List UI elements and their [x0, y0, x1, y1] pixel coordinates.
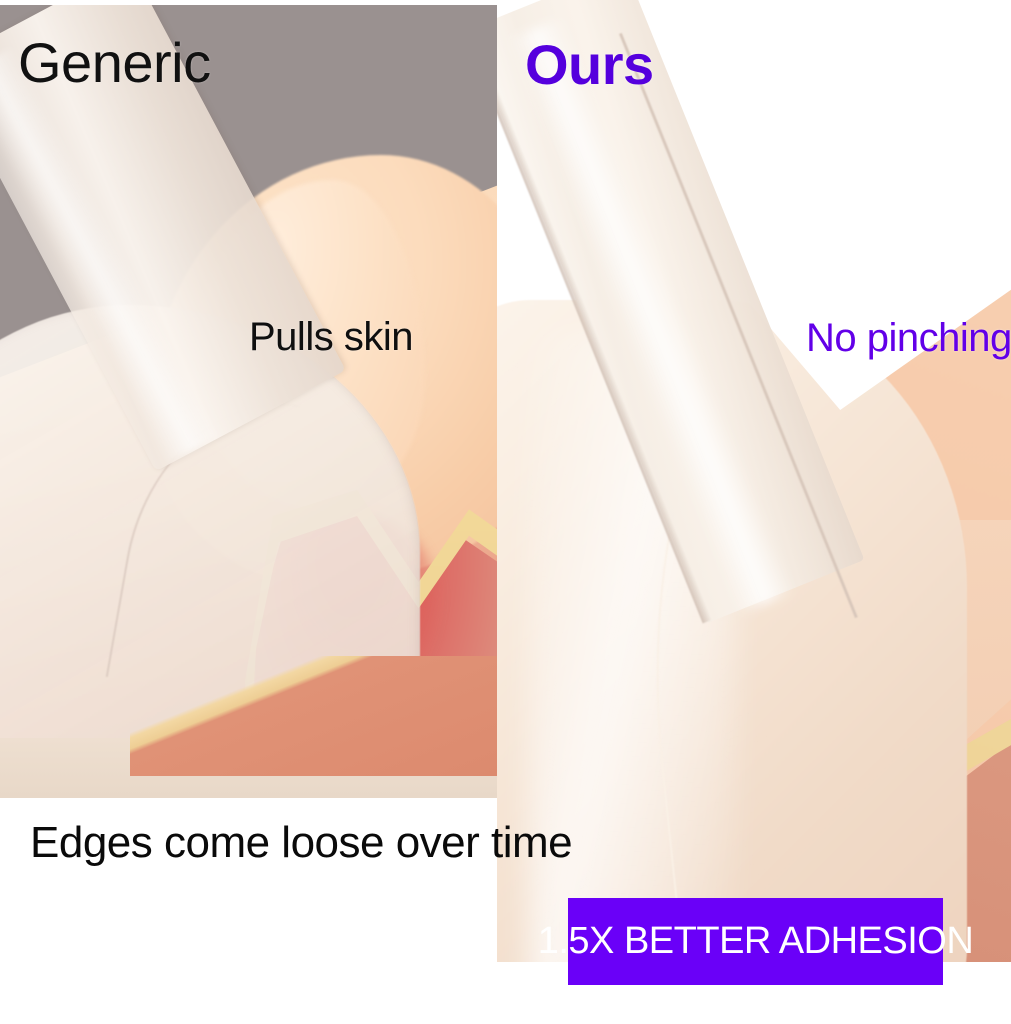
- adhesion-claim-banner: 1.5X BETTER ADHESION: [568, 898, 943, 985]
- comparison-infographic: Generic Ours Pulls skin No pinching Edge…: [0, 0, 1011, 1024]
- ours-callout-no-pinching: No pinching: [806, 316, 1011, 361]
- generic-caption-edges-come-loose: Edges come loose over time: [30, 818, 572, 868]
- ours-panel: [497, 0, 1011, 962]
- generic-callout-pulls-skin: Pulls skin: [249, 315, 413, 360]
- generic-bottom-diagonal-edge: [130, 656, 497, 776]
- generic-heading: Generic: [18, 30, 211, 95]
- ours-heading: Ours: [525, 32, 654, 97]
- adhesion-claim-text: 1.5X BETTER ADHESION: [538, 920, 974, 963]
- generic-panel: [0, 5, 497, 798]
